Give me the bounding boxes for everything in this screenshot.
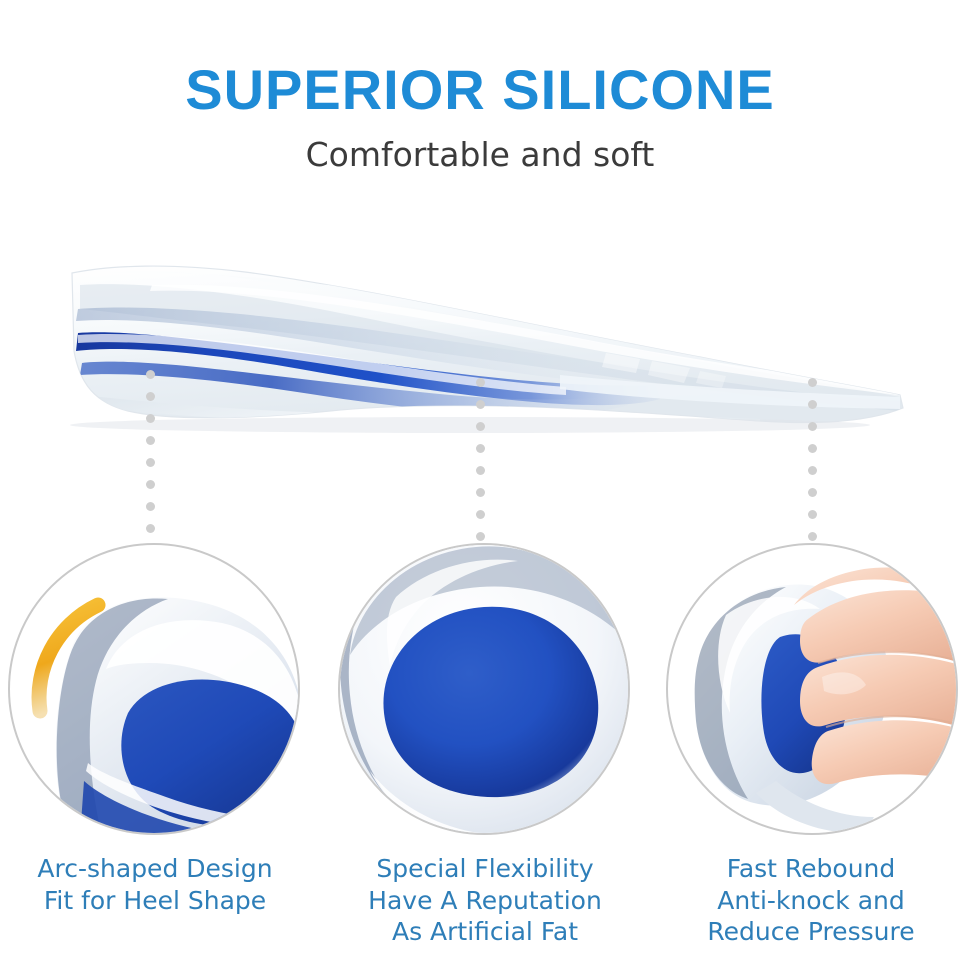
connector-dot [476, 510, 485, 519]
connector-dot [146, 436, 155, 445]
feature-photo-fast-rebound [666, 543, 958, 835]
connector-dot [476, 488, 485, 497]
connector-dot [476, 400, 485, 409]
blue-gel-core [383, 607, 598, 797]
connector-dot [808, 466, 817, 475]
header: SUPERIOR SILICONE Comfortable and soft [0, 0, 960, 171]
connector-dot [146, 502, 155, 511]
connector-center [476, 378, 485, 554]
connector-dot [808, 378, 817, 387]
connector-dot [146, 458, 155, 467]
caption-arc-shaped-design: Arc-shaped Design Fit for Heel Shape [0, 853, 310, 916]
feature-circles-row [0, 543, 960, 837]
infographic-page: SUPERIOR SILICONE Comfortable and soft [0, 0, 960, 960]
caption-line: Special Flexibility [330, 853, 640, 885]
connector-dot [808, 532, 817, 541]
caption-special-flexibility: Special Flexibility Have A Reputation As… [330, 853, 640, 948]
ground-shadow [70, 417, 870, 433]
connector-dot [476, 466, 485, 475]
connector-dot [146, 414, 155, 423]
connector-dot [808, 400, 817, 409]
caption-line: Reduce Pressure [656, 916, 960, 948]
connector-dot [146, 392, 155, 401]
connector-dot [146, 480, 155, 489]
connector-left [146, 370, 155, 546]
caption-line: Anti-knock and [656, 885, 960, 917]
caption-line: As Artificial Fat [330, 916, 640, 948]
connector-dot [808, 488, 817, 497]
caption-line: Fit for Heel Shape [0, 885, 310, 917]
page-subtitle: Comfortable and soft [0, 138, 960, 171]
connector-dot [808, 422, 817, 431]
feature-photo-arc-shaped-design [8, 543, 300, 835]
connector-dot [476, 422, 485, 431]
caption-fast-rebound: Fast Rebound Anti-knock and Reduce Press… [656, 853, 960, 948]
connector-dot [476, 532, 485, 541]
connector-dot [146, 524, 155, 533]
finger-pinky [812, 720, 958, 784]
page-title: SUPERIOR SILICONE [0, 62, 960, 118]
feature-photo-special-flexibility [338, 543, 630, 835]
connector-right [808, 378, 817, 554]
caption-line: Have A Reputation [330, 885, 640, 917]
caption-line: Arc-shaped Design [0, 853, 310, 885]
connector-dot [476, 444, 485, 453]
connector-dot [146, 370, 155, 379]
caption-line: Fast Rebound [656, 853, 960, 885]
connector-dot [476, 378, 485, 387]
connector-dot [808, 510, 817, 519]
connector-dot [808, 444, 817, 453]
